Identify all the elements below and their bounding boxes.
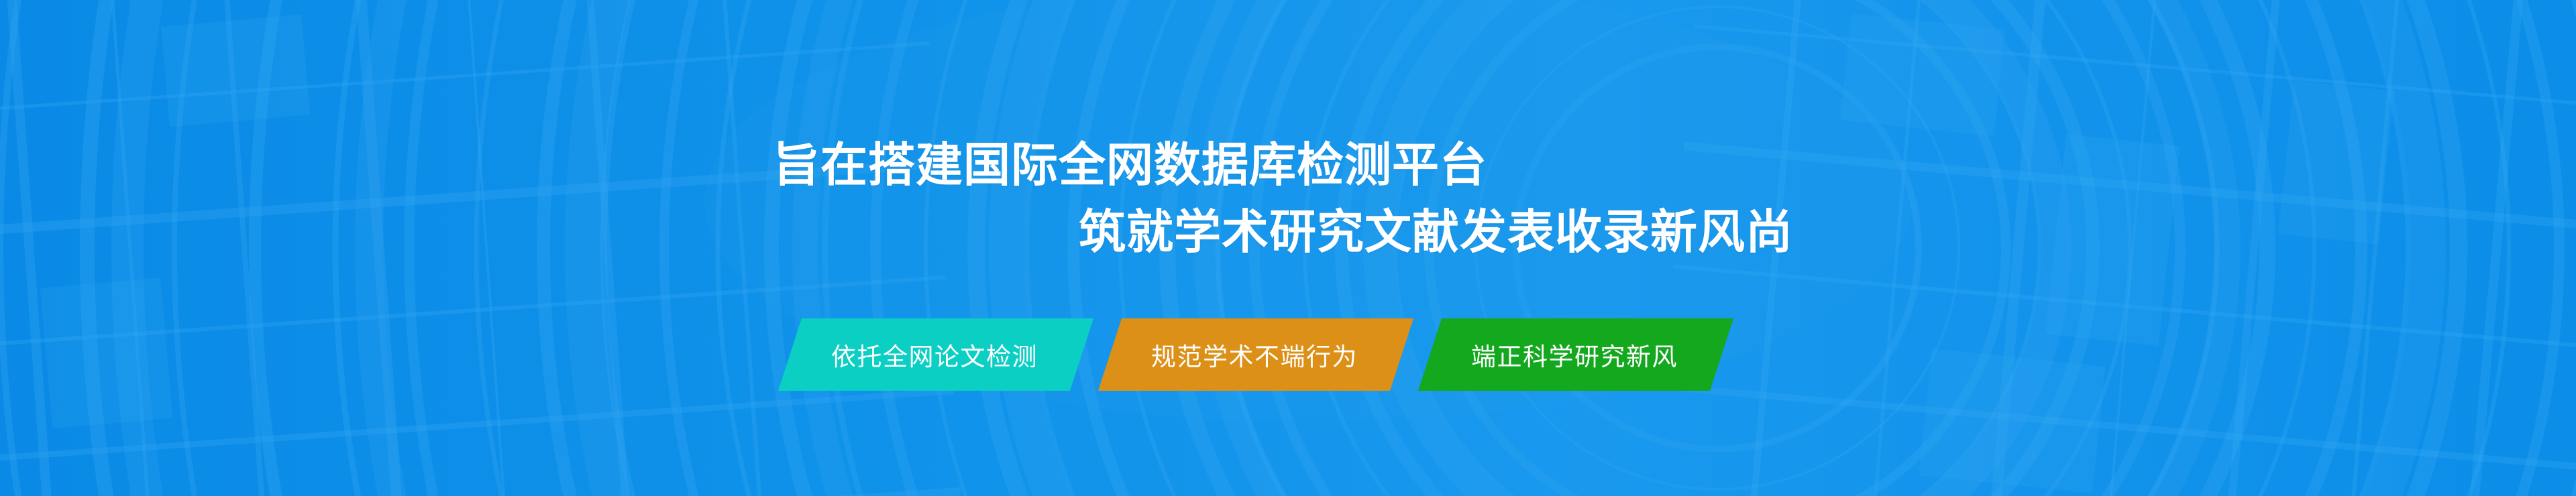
feature-tag-label: 依托全网论文检测	[831, 336, 1038, 373]
headline-group: 旨在搭建国际全网数据库检测平台 筑就学术研究文献发表收录新风尚	[0, 131, 2576, 265]
feature-tag-label: 端正科学研究新风	[1471, 336, 1678, 373]
feature-tag-strip: 依托全网论文检测 规范学术不端行为 端正科学研究新风	[778, 318, 1733, 391]
feature-tag-academic-misconduct[interactable]: 规范学术不端行为	[1098, 318, 1413, 391]
feature-tag-research-ethics[interactable]: 端正科学研究新风	[1418, 318, 1733, 391]
headline-line-1: 旨在搭建国际全网数据库检测平台	[773, 131, 2576, 198]
feature-tag-plagiarism-detection[interactable]: 依托全网论文检测	[778, 318, 1093, 391]
feature-tag-label: 规范学术不端行为	[1151, 336, 1358, 373]
promo-banner: 旨在搭建国际全网数据库检测平台 筑就学术研究文献发表收录新风尚 依托全网论文检测…	[0, 0, 2576, 496]
headline-line-2: 筑就学术研究文献发表收录新风尚	[1079, 198, 2576, 265]
